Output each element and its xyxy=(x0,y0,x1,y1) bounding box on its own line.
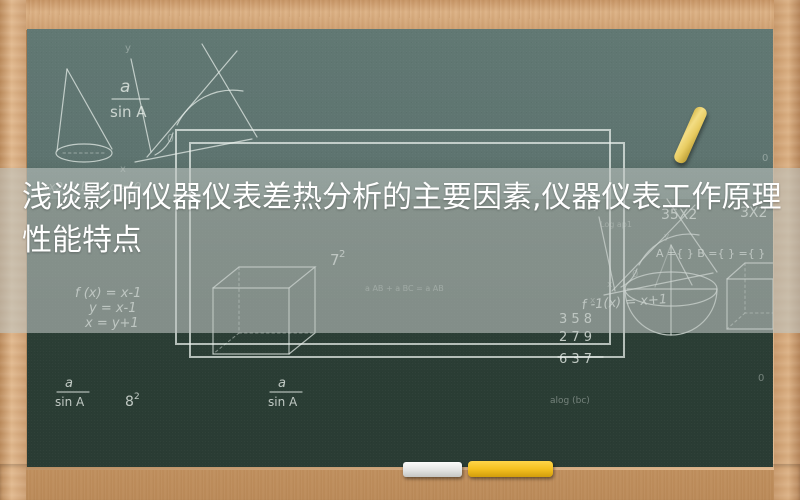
svg-text:a: a xyxy=(65,376,73,391)
screenshot-root: a sin A ax2 + bx +c = 0 y x 0 f (x) = x-… xyxy=(0,0,800,500)
svg-text:a: a xyxy=(278,376,286,391)
svg-text:0: 0 xyxy=(167,132,174,145)
svg-text:a: a xyxy=(120,77,130,97)
svg-text:alog (bc): alog (bc) xyxy=(550,396,590,406)
svg-text:sin A: sin A xyxy=(110,103,147,121)
svg-text:sin A: sin A xyxy=(268,395,298,409)
eraser-icon xyxy=(403,462,462,477)
svg-text:0: 0 xyxy=(762,153,768,164)
svg-text:sin A: sin A xyxy=(55,395,85,409)
svg-text:y: y xyxy=(125,43,131,54)
page-title: 浅谈影响仪器仪表差热分析的主要因素,仪器仪表工作原理性能特点 xyxy=(22,176,792,262)
frame-bottom-ledge xyxy=(0,464,800,500)
svg-text:0: 0 xyxy=(758,373,764,384)
svg-text:8: 8 xyxy=(125,394,134,410)
frame-top-rail xyxy=(0,0,800,30)
svg-text:2: 2 xyxy=(134,392,140,402)
tray-chalk-icon xyxy=(468,461,553,477)
